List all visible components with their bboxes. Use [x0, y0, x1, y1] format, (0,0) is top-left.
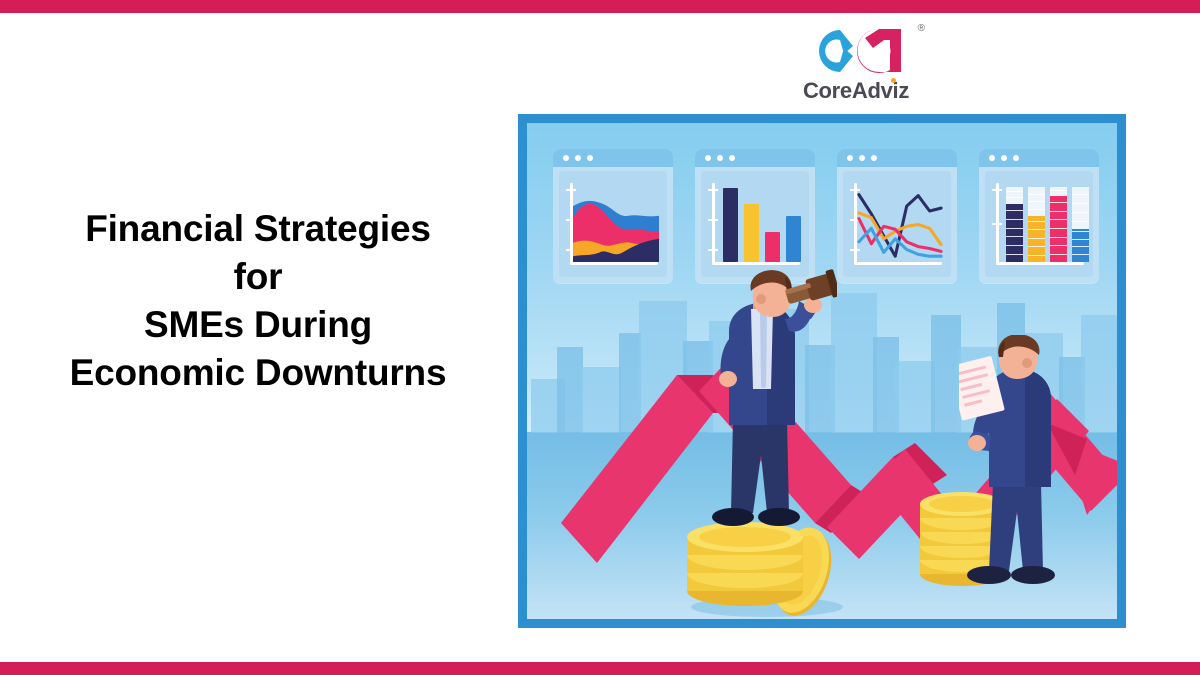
illustration-stage	[527, 123, 1117, 619]
businessman-with-document	[959, 335, 1077, 601]
businessman-with-telescope	[703, 269, 837, 535]
registered-trademark-icon: ®	[918, 24, 925, 34]
page-title-line-3: SMEs During	[0, 301, 516, 349]
coreadviz-mark-icon	[795, 24, 917, 78]
page-title: Financial Strategies for SMEs During Eco…	[0, 205, 516, 397]
brand-logo[interactable]: ® CoreAdviz	[786, 24, 926, 108]
page-title-line-1: Financial Strategies	[0, 205, 516, 253]
page-title-line-4: Economic Downturns	[0, 349, 516, 397]
page-title-line-2: for	[0, 253, 516, 301]
brand-wordmark: CoreAdviz	[786, 78, 926, 104]
top-accent-bar	[0, 0, 1200, 13]
hero-illustration	[518, 114, 1126, 628]
brand-i-dot-icon	[891, 78, 896, 83]
bottom-accent-bar	[0, 662, 1200, 675]
